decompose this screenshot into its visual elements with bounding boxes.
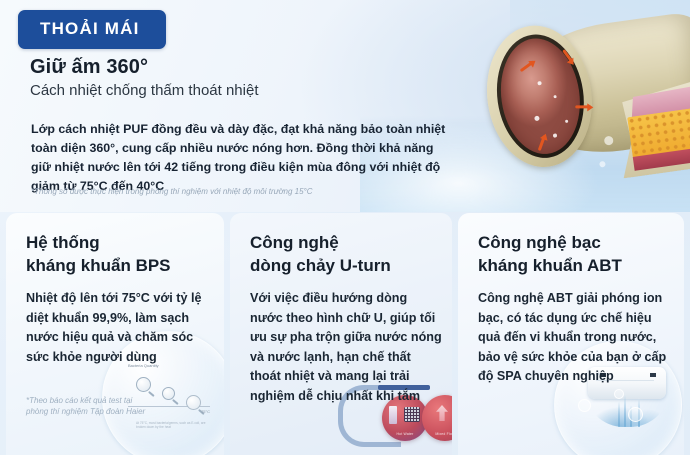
card-abt-body: Công nghệ ABT giải phóng ion bạc, có tác…	[478, 289, 674, 387]
hero-title: Giữ ấm 360°	[30, 56, 148, 79]
heater-bar-icon	[389, 406, 397, 424]
card-bps[interactable]: Bacteria Quantity 75°C At 75°C, most bac…	[6, 213, 224, 455]
card-bps-body: Nhiệt độ lên tới 75°C với tỷ lệ diệt khu…	[26, 289, 212, 367]
card-bps-title-line1: Hệ thống	[26, 231, 216, 254]
infographic-root: THOẢI MÁI Giữ ấm 360° Cách nhiệt chống t…	[0, 0, 690, 455]
card-bps-title-line2: kháng khuẩn BPS	[26, 254, 216, 277]
grid-mesh-icon	[404, 407, 420, 422]
water-spray	[624, 394, 626, 427]
card-uturn-title: Công nghệ dòng chảy U-turn	[250, 231, 448, 277]
card-uturn-body: Với việc điều hướng dòng nước theo hình …	[250, 289, 442, 406]
card-bps-footnote: *Theo báo cáo kết quả test tại phòng thí…	[26, 395, 206, 417]
water-droplet	[578, 399, 591, 412]
water-droplet	[628, 407, 643, 422]
hero-footnote: *Thông số được thực hiện trong phòng thí…	[31, 186, 451, 197]
card-abt[interactable]: Haier Công nghệ bạc kháng khuẩn ABT	[458, 213, 684, 455]
feature-cards: Bacteria Quantity 75°C At 75°C, most bac…	[0, 213, 690, 455]
heat-arrow-icon	[575, 105, 591, 108]
water-droplet	[614, 389, 624, 399]
up-arrow-icon	[436, 405, 448, 421]
card-bps-footnote-line2: phòng thí nghiệm Tập đoàn Haier	[26, 406, 206, 417]
mixed-flow-badge-label: Mixed Flow	[422, 432, 452, 436]
card-abt-title-line1: Công nghệ bạc	[478, 231, 678, 254]
card-abt-title: Công nghệ bạc kháng khuẩn ABT	[478, 231, 678, 277]
hero-section: THOẢI MÁI Giữ ấm 360° Cách nhiệt chống t…	[0, 0, 690, 212]
card-uturn[interactable]: Hot Water Mixed Flow Công nghệ dòng chảy…	[230, 213, 452, 455]
water-splash	[584, 387, 670, 427]
card-bps-footnote-line1: *Theo báo cáo kết quả test tại	[26, 395, 206, 406]
card-uturn-title-line1: Công nghệ	[250, 231, 448, 254]
hero-paragraph: Lớp cách nhiệt PUF đồng đều và dày đặc, …	[31, 120, 451, 196]
card-uturn-title-line2: dòng chảy U-turn	[250, 254, 448, 277]
water-spray	[618, 401, 620, 427]
card-bps-title: Hệ thống kháng khuẩn BPS	[26, 231, 216, 277]
water-heater-tank-illustration	[451, 0, 690, 197]
hero-subtitle: Cách nhiệt chống thấm thoát nhiệt	[30, 82, 259, 99]
hero-badge: THOẢI MÁI	[18, 10, 166, 49]
bubble-dot	[599, 161, 606, 168]
chart-caption: At 75°C, most bacteria/germs, such as E.…	[136, 421, 214, 429]
bacteria-germ-icon	[136, 377, 151, 392]
card-abt-title-line2: kháng khuẩn ABT	[478, 254, 678, 277]
